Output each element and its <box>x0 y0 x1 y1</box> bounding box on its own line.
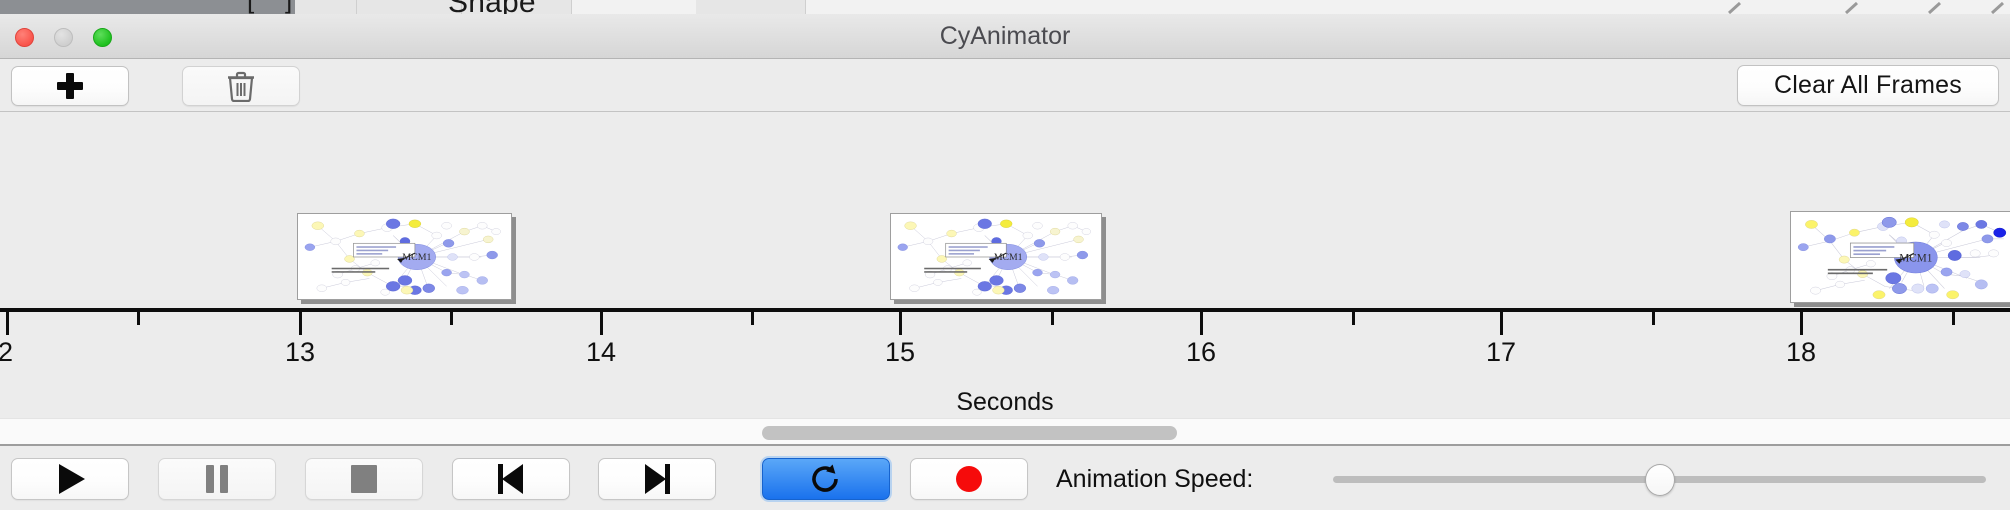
frame-1-node-label: MCM1 <box>402 252 431 263</box>
background-toolbar-segment <box>357 0 462 14</box>
minimize-button[interactable] <box>54 28 73 47</box>
record-icon <box>956 466 982 492</box>
maximize-button[interactable] <box>93 28 112 47</box>
axis-label-12: 12 <box>0 337 13 368</box>
animation-speed-slider[interactable] <box>1333 458 1986 500</box>
loop-icon <box>810 463 842 495</box>
background-glyph-bracket: ] <box>285 0 292 14</box>
playback-controls-bar: Animation Speed: <box>0 448 2010 510</box>
background-sort-arrow-icon <box>1845 2 1859 14</box>
scrollbar-thumb[interactable] <box>762 426 1177 440</box>
axis-tick-minor <box>751 312 754 325</box>
axis-tick-minor <box>1652 312 1655 325</box>
axis-title: Seconds <box>0 388 2010 417</box>
network-thumbnail-graphic: MCM1 <box>298 214 511 299</box>
axis-tick-minor <box>1051 312 1054 325</box>
background-window-strip: [ ] Shape <box>0 0 2010 14</box>
axis-tick-minor <box>1352 312 1355 325</box>
background-glyph-bracket: [ <box>247 0 254 14</box>
network-thumbnail-graphic: MCM1 <box>1791 212 2010 302</box>
frame-3-node-label: MCM1 <box>1899 253 1932 265</box>
axis-tick-major <box>600 312 603 335</box>
frame-thumbnail-3[interactable]: MCM1 <box>1790 211 2010 303</box>
pause-icon <box>206 465 228 493</box>
background-toolbar-segment <box>696 0 806 14</box>
record-button[interactable] <box>910 458 1028 500</box>
timeline-horizontal-scrollbar[interactable] <box>0 418 2010 446</box>
background-toolbar-segment <box>295 0 357 14</box>
axis-tick-minor <box>450 312 453 325</box>
axis-tick-major <box>299 312 302 335</box>
stop-icon <box>351 465 377 493</box>
background-sort-arrow-icon <box>1991 2 2005 14</box>
plus-icon <box>57 73 83 99</box>
window-titlebar[interactable]: CyAnimator <box>0 14 2010 59</box>
frame-toolbar: Clear All Frames <box>0 59 2010 112</box>
frame-2-node-label: MCM1 <box>994 252 1023 263</box>
frame-thumbnail-1[interactable]: MCM1 <box>297 213 512 300</box>
play-button[interactable] <box>11 458 129 500</box>
loop-button[interactable] <box>762 458 890 500</box>
background-window-label: Shape <box>448 0 536 14</box>
background-sort-arrow-icon <box>1928 2 1942 14</box>
add-frame-button[interactable] <box>11 66 129 106</box>
delete-frame-button[interactable] <box>182 66 300 106</box>
axis-label-14: 14 <box>586 337 616 368</box>
trash-icon <box>226 70 256 102</box>
network-thumbnail-graphic: MCM1 <box>891 214 1101 299</box>
timeline-axis[interactable]: 12 13 14 15 16 17 18 Seconds <box>0 308 2010 418</box>
axis-tick-major <box>1800 312 1803 335</box>
skip-to-start-button[interactable] <box>452 458 570 500</box>
axis-label-18: 18 <box>1786 337 1816 368</box>
play-icon <box>59 464 85 494</box>
animation-speed-label: Animation Speed: <box>1056 458 1253 500</box>
window-title: CyAnimator <box>0 14 2010 59</box>
axis-label-16: 16 <box>1186 337 1216 368</box>
axis-tick-major <box>6 312 9 335</box>
timeline-frames-area[interactable]: MCM1 <box>0 112 2010 308</box>
axis-label-17: 17 <box>1486 337 1516 368</box>
axis-label-13: 13 <box>285 337 315 368</box>
close-button[interactable] <box>15 28 34 47</box>
stop-button[interactable] <box>305 458 423 500</box>
frame-thumbnail-2[interactable]: MCM1 <box>890 213 1102 300</box>
slider-thumb[interactable] <box>1645 464 1675 496</box>
skip-back-icon <box>498 464 524 494</box>
axis-tick-major <box>1200 312 1203 335</box>
pause-button[interactable] <box>158 458 276 500</box>
axis-tick-major <box>1500 312 1503 335</box>
axis-tick-minor <box>137 312 140 325</box>
skip-forward-icon <box>644 464 670 494</box>
axis-tick-major <box>899 312 902 335</box>
skip-to-end-button[interactable] <box>598 458 716 500</box>
axis-tick-minor <box>1952 312 1955 325</box>
axis-label-15: 15 <box>885 337 915 368</box>
background-sort-arrow-icon <box>1728 2 1742 14</box>
clear-all-frames-button[interactable]: Clear All Frames <box>1737 65 1999 106</box>
cyanimator-window: [ ] Shape CyAnimator Clear All Frames <box>0 0 2010 510</box>
